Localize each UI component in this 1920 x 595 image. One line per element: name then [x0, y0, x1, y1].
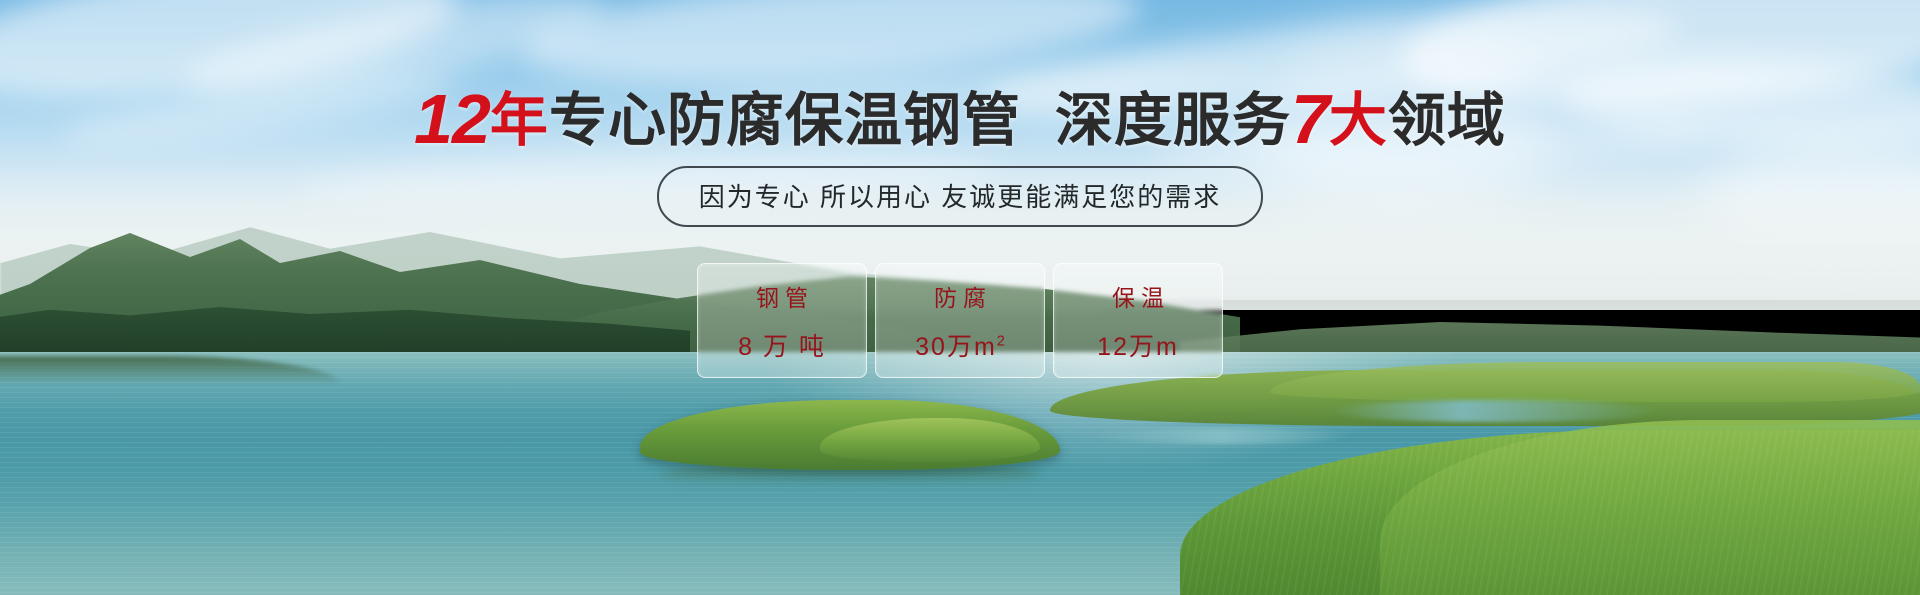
stat-card-steel-pipe: 钢管 8 万 吨 — [697, 263, 867, 378]
stat-card-insulation: 保温 12万m — [1053, 263, 1223, 378]
stat-value-text: 30万m — [915, 333, 997, 361]
stat-value: 8 万 吨 — [738, 327, 826, 363]
stat-value-superscript: 2 — [997, 333, 1005, 349]
headline-fields-text: 领域 — [1388, 88, 1506, 153]
headline-main-text: 专心防腐保温钢管 — [549, 88, 1021, 153]
stat-label: 防腐 — [928, 279, 992, 313]
stat-value-text: 8 万 吨 — [738, 333, 826, 361]
stat-label: 钢管 — [750, 279, 814, 313]
headline-fields-number: 7 — [1291, 80, 1329, 158]
stat-value: 30万m2 — [915, 327, 1005, 363]
stat-card-group: 钢管 8 万 吨 防腐 30万m2 保温 12万m — [0, 263, 1920, 378]
banner-subtitle-container: 因为专心 所以用心 友诚更能满足您的需求 — [0, 166, 1920, 227]
stat-label: 保温 — [1106, 279, 1170, 313]
headline-years-number: 12 — [414, 80, 490, 158]
banner-subtitle-pill: 因为专心 所以用心 友诚更能满足您的需求 — [657, 166, 1263, 227]
stat-card-anticorrosion: 防腐 30万m2 — [875, 263, 1045, 378]
headline-service-text: 深度服务 — [1055, 88, 1291, 153]
banner-text-overlay: 12年专心防腐保温钢管深度服务7大领域 因为专心 所以用心 友诚更能满足您的需求… — [0, 0, 1920, 595]
headline-fields-unit: 大 — [1329, 88, 1388, 153]
banner-headline: 12年专心防腐保温钢管深度服务7大领域 — [0, 84, 1920, 154]
headline-years-unit: 年 — [490, 88, 549, 153]
promo-banner: 12年专心防腐保温钢管深度服务7大领域 因为专心 所以用心 友诚更能满足您的需求… — [0, 0, 1920, 595]
stat-value-text: 12万m — [1097, 333, 1179, 361]
stat-value: 12万m — [1097, 327, 1179, 363]
